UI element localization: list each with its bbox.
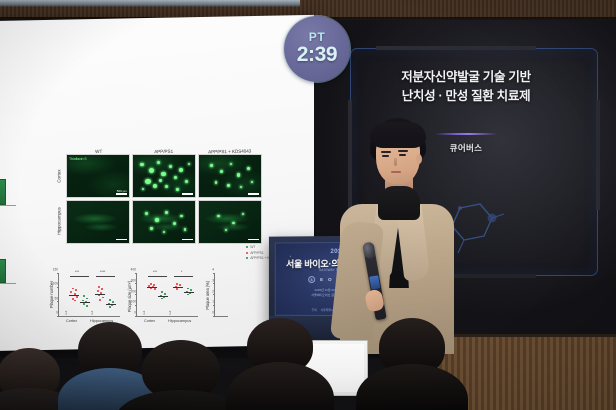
group-tick-label: n.d. <box>168 310 172 315</box>
speaker-hair-front <box>370 122 426 148</box>
pt-timer-badge: PT 2:39 <box>284 16 350 82</box>
slide-title: 저분자신약발굴 기술 기반 난치성 · 만성 질환 치료제 <box>316 68 616 107</box>
microphone-label <box>369 275 381 289</box>
group-tick-label: n.d. <box>90 310 94 315</box>
sponsor-logo-icon: E <box>320 277 323 282</box>
speaker-turtleneck-collar <box>378 186 420 220</box>
significance-annotation: * <box>181 270 182 274</box>
audience-member-3 <box>126 340 236 410</box>
fragment-label-2: APP/PS1 <box>0 286 26 291</box>
chart-plaque-area: Plaque area (%) 0 1 2 3 4 <box>206 273 228 317</box>
side-chart-fragment-1: *** APP/PS1 <box>0 173 26 213</box>
y-tick-label: 3 <box>212 278 214 282</box>
sponsor-logo-icon: S <box>308 276 315 283</box>
y-tick-label: 100 <box>53 282 58 286</box>
quantification-charts: Plaque number 0 50 100 150 <box>50 273 228 317</box>
legend-dot-icon <box>246 252 248 254</box>
y-tick-label: 150 <box>53 267 58 271</box>
speaker-eyebrow <box>381 151 391 153</box>
side-chart-fragment-2: ** APP/PS1 <box>0 253 26 291</box>
micro-panel-hippocampus-appps1-kds4043 <box>198 200 262 244</box>
fragment-label-1: APP/PS1 <box>0 208 26 213</box>
host-label: 주최 <box>312 308 317 312</box>
y-tick-label: 100 <box>131 300 136 304</box>
audience-member-5 <box>364 318 460 410</box>
scale-bar <box>116 239 127 240</box>
slide-title-line1: 저분자신약발굴 기술 기반 <box>316 68 616 87</box>
legend-label: APP/PS1 <box>250 251 263 255</box>
stain-label: Thioflavin S <box>69 157 87 161</box>
chart-y-axis-title: Plaque size (μm²) <box>127 281 132 312</box>
microscopy-panel-grid: Thioflavin S 500 μm <box>66 154 262 244</box>
scale-bar <box>248 239 259 240</box>
micro-panel-hippocampus-wt <box>66 200 130 244</box>
host-name: 서울특별시 <box>321 308 334 312</box>
row-label-hippocampus: Hippocampus <box>52 199 66 244</box>
tissue-texture <box>199 201 261 243</box>
scale-bar <box>182 239 193 240</box>
micro-panel-cortex-appps1 <box>132 154 196 198</box>
speaker-ear <box>416 154 422 164</box>
conference-photo-scene: *** APP/PS1 ** APP/PS1 WT APP/PS1 APP/PS… <box>0 0 616 410</box>
fragment-axis-2 <box>0 283 16 284</box>
significance-annotation: **** <box>100 270 105 274</box>
chart-plot-area: 0 100 200 300 400 <box>136 273 198 317</box>
significance-annotation: *** <box>153 270 157 274</box>
y-tick-label: 50 <box>54 296 58 300</box>
fragment-significance-2: ** <box>0 253 26 258</box>
group-tick-label: n.d. <box>142 310 146 315</box>
significance-annotation: *** <box>75 270 79 274</box>
legend-label: WT <box>250 245 255 249</box>
y-tick-label: 400 <box>131 267 136 271</box>
chart-plaque-number: Plaque number 0 50 100 150 <box>50 273 120 317</box>
micro-panel-hippocampus-appps1 <box>132 200 196 244</box>
scale-bar-text: 500 μm <box>117 189 127 193</box>
speaker <box>336 118 456 348</box>
fragment-axis-1 <box>0 205 16 206</box>
group-tick-label: n.d. <box>64 310 68 315</box>
y-tick-label: 300 <box>131 278 136 282</box>
microscopy-figure: WT APP/PS1 APP/PS1 + KDS4043 Cortex Hipp… <box>52 149 262 244</box>
legend-dot-icon <box>246 246 248 248</box>
chart-x-label-hippocampus: Hippocampus <box>168 319 191 323</box>
chart-plaque-size: Plaque size (μm²) 0 100 200 300 400 <box>128 273 198 317</box>
projection-screen: *** APP/PS1 ** APP/PS1 WT APP/PS1 APP/PS… <box>0 15 314 351</box>
legend-dot-icon <box>246 257 248 259</box>
tissue-texture <box>133 201 195 243</box>
scale-bar <box>248 193 259 194</box>
sponsor-logo-icon: O <box>328 277 332 282</box>
y-tick-label: 2 <box>212 289 214 293</box>
audience-member-4 <box>232 318 328 410</box>
chart-plot-area: 0 50 100 150 <box>58 273 120 317</box>
speaker-nose <box>394 158 397 166</box>
y-tick-label: 0 <box>134 310 136 314</box>
y-tick-label: 1 <box>212 300 214 304</box>
micro-panel-cortex-appps1-kds4043 <box>198 154 262 198</box>
microscopy-rows: Cortex Hippocampus Thioflavin S 500 μm <box>52 154 262 244</box>
y-tick-label: 200 <box>131 289 136 293</box>
speaker-eyebrow <box>398 150 408 152</box>
y-tick-label: 4 <box>212 267 214 271</box>
tissue-texture <box>199 155 261 197</box>
scale-bar <box>116 193 127 194</box>
fragment-significance-1: *** <box>0 173 26 178</box>
tissue-texture <box>67 201 129 243</box>
pt-timer-label: PT <box>309 31 326 43</box>
slide-title-line2: 난치성 · 만성 질환 치료제 <box>316 87 616 106</box>
microscopy-row-labels: Cortex Hippocampus <box>52 154 66 244</box>
fragment-bar-1 <box>0 179 6 205</box>
chart-y-axis-title: Plaque area (%) <box>205 281 210 310</box>
scale-bar <box>182 193 193 194</box>
micro-panel-cortex-wt: Thioflavin S 500 μm <box>66 154 130 198</box>
chart-plot-area: 0 1 2 3 4 <box>214 273 228 317</box>
y-tick-label: 0 <box>56 310 58 314</box>
fragment-bar-2 <box>0 259 6 283</box>
pt-timer-value: 2:39 <box>297 44 337 67</box>
ceiling-light-strip <box>0 0 300 7</box>
row-label-cortex: Cortex <box>52 154 66 199</box>
y-tick-label: 0 <box>212 310 214 314</box>
speaker-mouth <box>391 171 401 173</box>
